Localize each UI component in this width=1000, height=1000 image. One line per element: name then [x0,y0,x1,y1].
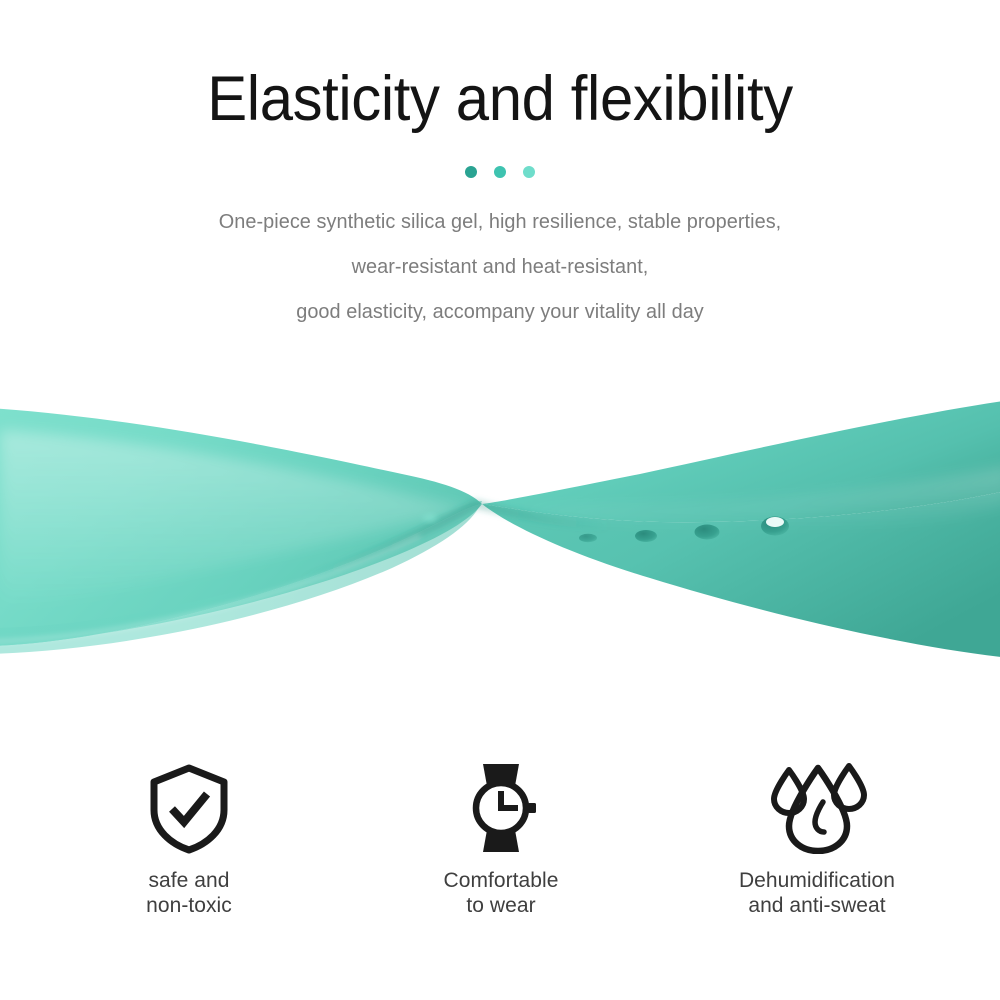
band-surface-mark [423,514,437,522]
subtitle-line-3: good elasticity, accompany your vitality… [15,289,985,334]
water-drops-icon [761,762,873,854]
feature-label-safe: safe and non-toxic [146,868,232,918]
divider-dot-2 [494,166,506,178]
feature-safe-non-toxic: safe and non-toxic [33,762,345,918]
feature-label-dehumidification: Dehumidification and anti-sweat [739,868,895,918]
feature-row: safe and non-toxic [0,762,1000,947]
feature-label-comfortable-line2: to wear [444,893,559,918]
band-hole-1 [579,534,597,542]
feature-label-comfortable: Comfortable to wear [444,868,559,918]
feature-comfortable-to-wear: Comfortable to wear [345,762,657,918]
band-hole-3 [695,525,720,540]
subtitle-block: One-piece synthetic silica gel, high res… [15,199,985,334]
feature-label-dehumidification-line1: Dehumidification [739,869,895,892]
feature-label-dehumidification-line2: and anti-sweat [739,893,895,918]
band-hole-4-pierce [766,517,784,527]
feature-label-safe-line2: non-toxic [146,893,232,918]
twisted-band-illustration [0,370,1000,690]
subtitle-line-2: wear-resistant and heat-resistant, [15,244,985,289]
product-feature-page: Elasticity and flexibility One-piece syn… [0,0,1000,1000]
feature-label-comfortable-line1: Comfortable [444,869,559,892]
product-image [0,370,1000,690]
wristwatch-icon [460,762,542,854]
divider-dot-3 [523,166,535,178]
shield-check-icon [145,762,233,854]
feature-dehumidification: Dehumidification and anti-sweat [661,762,973,918]
divider-dot-1 [465,166,477,178]
dot-divider [0,166,1000,178]
subtitle-line-1: One-piece synthetic silica gel, high res… [15,199,985,244]
feature-label-safe-line1: safe and [149,869,230,892]
band-hole-2 [635,530,657,542]
page-title: Elasticity and flexibility [25,63,975,135]
